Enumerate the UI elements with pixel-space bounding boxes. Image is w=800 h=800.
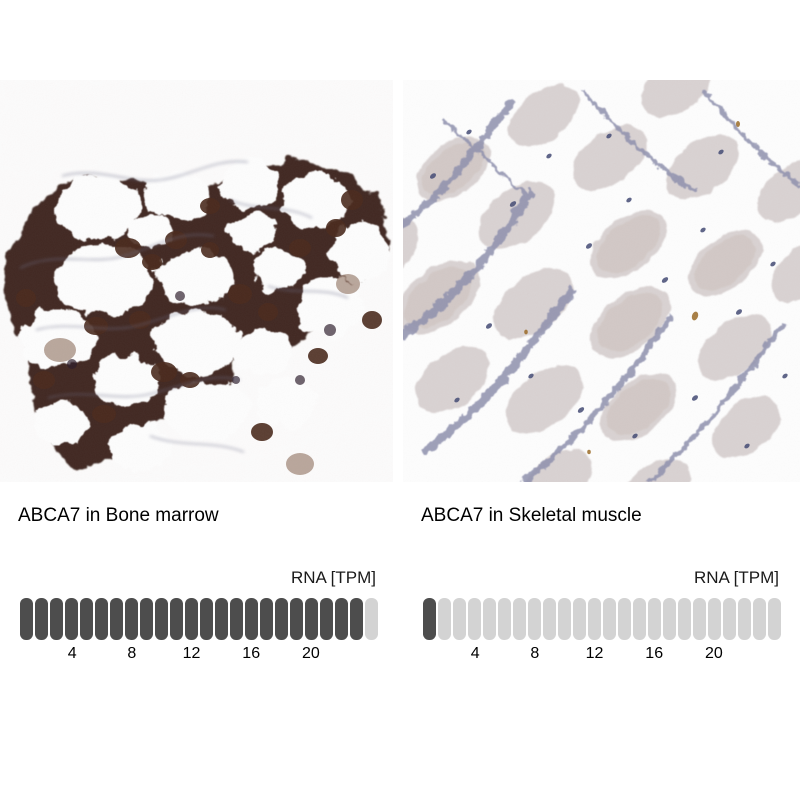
micrograph-panels: [0, 80, 800, 482]
skeletal-muscle-micrograph-image: [403, 80, 800, 482]
figure-page: ABCA7 in Bone marrow RNA [TPM] 48121620 …: [0, 0, 800, 800]
axis-tick-label: 8: [127, 644, 136, 664]
gauge-segment: [275, 598, 288, 640]
axis-tick-label: 8: [530, 644, 539, 664]
gauge-segment: [618, 598, 631, 640]
gauge-segment: [215, 598, 228, 640]
axis-tick-label: 20: [302, 644, 320, 664]
gauge-segment: [335, 598, 348, 640]
captions-and-gauges: ABCA7 in Bone marrow RNA [TPM] 48121620 …: [0, 498, 800, 688]
gauge-segment: [140, 598, 153, 640]
gauge-segment: [543, 598, 556, 640]
gauge-segment: [110, 598, 123, 640]
gauge-segment: [603, 598, 616, 640]
micrograph-panel-bone-marrow[interactable]: [0, 80, 393, 482]
bone-marrow-micrograph-image: [0, 80, 393, 482]
gauge-segment: [738, 598, 751, 640]
gauge-segment: [453, 598, 466, 640]
gauge-segment: [438, 598, 451, 640]
panel-caption-bone-marrow: ABCA7 in Bone marrow: [18, 504, 219, 527]
column-skeletal-muscle: ABCA7 in Skeletal muscle RNA [TPM] 48121…: [421, 498, 800, 688]
gauge-segment: [200, 598, 213, 640]
gauge-segment: [753, 598, 766, 640]
gauge-segment: [125, 598, 138, 640]
rna-axis-bone-marrow: 48121620: [20, 644, 378, 666]
gauge-segment: [723, 598, 736, 640]
micrograph-panel-skeletal-muscle[interactable]: [403, 80, 800, 482]
gauge-segment: [663, 598, 676, 640]
axis-tick-label: 4: [471, 644, 480, 664]
gauge-segment: [290, 598, 303, 640]
gauge-segment: [50, 598, 63, 640]
rna-gauge-skeletal-muscle[interactable]: [423, 598, 781, 640]
gauge-segment: [155, 598, 168, 640]
gauge-segment: [20, 598, 33, 640]
gauge-segment: [483, 598, 496, 640]
rna-tpm-label-skeletal-muscle: RNA [TPM]: [421, 568, 779, 588]
axis-tick-label: 4: [68, 644, 77, 664]
gauge-segment: [498, 598, 511, 640]
gauge-segment: [558, 598, 571, 640]
gauge-segment: [648, 598, 661, 640]
axis-tick-label: 12: [183, 644, 201, 664]
gauge-segment: [365, 598, 378, 640]
column-bone-marrow: ABCA7 in Bone marrow RNA [TPM] 48121620: [18, 498, 408, 688]
axis-tick-label: 12: [586, 644, 604, 664]
gauge-segment: [230, 598, 243, 640]
gauge-segment: [170, 598, 183, 640]
gauge-segment: [320, 598, 333, 640]
gauge-segment: [468, 598, 481, 640]
gauge-segment: [245, 598, 258, 640]
axis-tick-label: 20: [705, 644, 723, 664]
gauge-segment: [185, 598, 198, 640]
rna-tpm-label-bone-marrow: RNA [TPM]: [18, 568, 376, 588]
gauge-segment: [678, 598, 691, 640]
gauge-segment: [350, 598, 363, 640]
gauge-segment: [693, 598, 706, 640]
gauge-segment: [305, 598, 318, 640]
gauge-segment: [65, 598, 78, 640]
gauge-segment: [423, 598, 436, 640]
gauge-segment: [768, 598, 781, 640]
gauge-segment: [513, 598, 526, 640]
panel-caption-skeletal-muscle: ABCA7 in Skeletal muscle: [421, 504, 642, 527]
gauge-segment: [588, 598, 601, 640]
gauge-segment: [708, 598, 721, 640]
gauge-segment: [80, 598, 93, 640]
rna-gauge-bone-marrow[interactable]: [20, 598, 378, 640]
axis-tick-label: 16: [645, 644, 663, 664]
rna-axis-skeletal-muscle: 48121620: [423, 644, 781, 666]
gauge-segment: [35, 598, 48, 640]
gauge-segment: [95, 598, 108, 640]
gauge-segment: [573, 598, 586, 640]
gauge-segment: [528, 598, 541, 640]
axis-tick-label: 16: [242, 644, 260, 664]
gauge-segment: [633, 598, 646, 640]
gauge-segment: [260, 598, 273, 640]
